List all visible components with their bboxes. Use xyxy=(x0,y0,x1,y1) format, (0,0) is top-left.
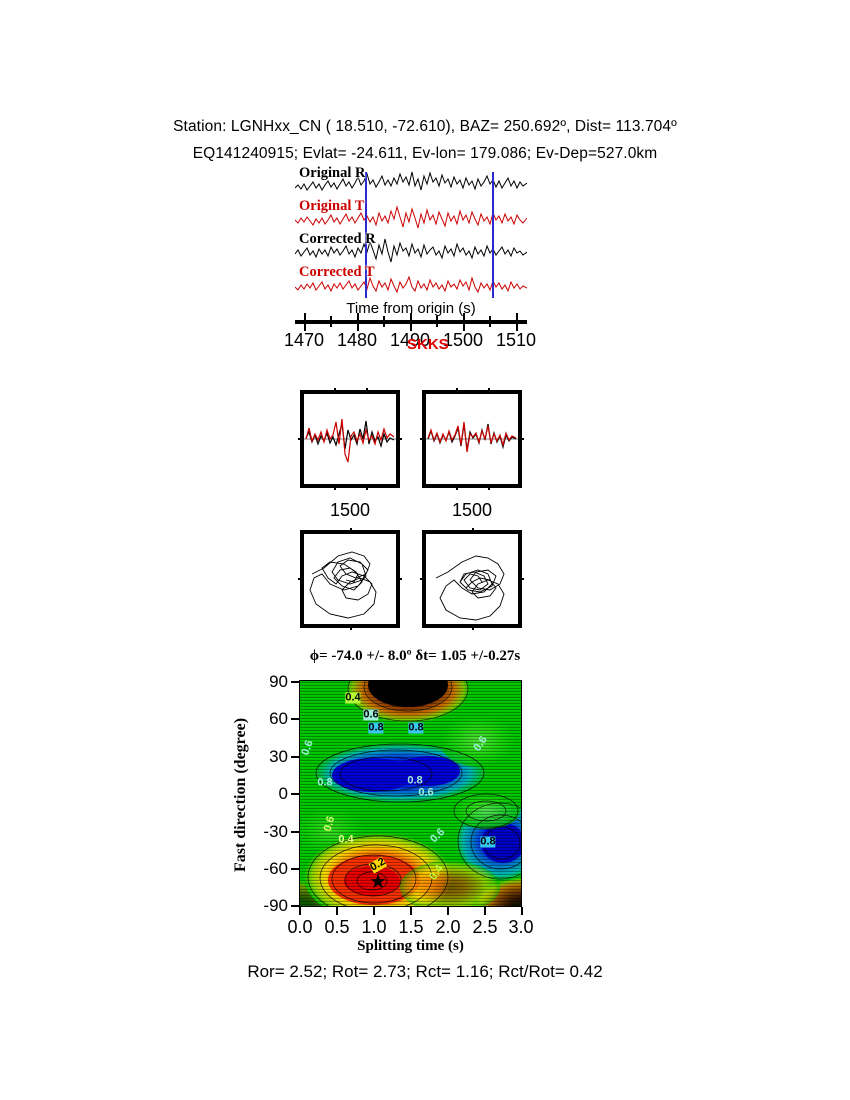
time-axis-tick xyxy=(516,313,518,331)
contour-label: 0.8 xyxy=(480,837,495,848)
y-tick xyxy=(291,793,299,795)
x-tick xyxy=(299,907,301,915)
time-axis-minor-tick xyxy=(383,316,385,327)
best-fit-solution-star: ★ xyxy=(369,872,387,892)
overlay-curves-left xyxy=(304,394,396,484)
x-tick-label: 0.0 xyxy=(287,917,312,938)
time-axis-minor-tick xyxy=(330,316,332,327)
box-tick xyxy=(472,624,474,630)
contour-label: 0.8 xyxy=(317,778,332,789)
y-tick-label: 60 xyxy=(248,709,288,729)
time-axis-tick xyxy=(410,313,412,331)
time-axis-tick xyxy=(304,313,306,331)
y-tick-label: -60 xyxy=(240,859,288,879)
box-tick xyxy=(518,578,524,580)
y-tick-label: -30 xyxy=(240,822,288,842)
splitting-misfit-contour-plot[interactable]: 0.4 0.6 0.8 0.8 0.6 0.6 0.8 0.8 0.6 0.6 … xyxy=(299,680,522,907)
contour-surface xyxy=(300,681,522,907)
skks-phase-label: SKKS xyxy=(407,336,449,353)
event-header-line: EQ141240915; Evlat= -24.611, Ev-lon= 179… xyxy=(0,145,850,163)
contour-label: 0.4 xyxy=(338,835,353,846)
box-tick xyxy=(396,578,402,580)
waveform-panel: SKKS Original R Original T Corrected R C… xyxy=(295,168,527,298)
box-tick xyxy=(518,438,524,440)
x-tick xyxy=(410,907,412,915)
corrected-waveform-box-right xyxy=(422,390,522,488)
trace-label-corrected-r: Corrected R xyxy=(299,231,376,248)
y-tick xyxy=(291,868,299,870)
corrected-waveform-box-left xyxy=(300,390,400,488)
phase-window-marker-end xyxy=(492,172,494,298)
time-tick-label: 1510 xyxy=(496,330,536,351)
splitting-parameters-title: ϕ= -74.0 +/- 8.0º δt= 1.05 +/-0.27s xyxy=(235,648,595,665)
x-tick xyxy=(521,907,523,915)
x-tick-label: 2.0 xyxy=(435,917,460,938)
y-tick-label: 90 xyxy=(248,672,288,692)
y-tick xyxy=(291,905,299,907)
y-tick xyxy=(291,831,299,833)
box-tick xyxy=(334,484,336,490)
time-tick-label: 1470 xyxy=(284,330,324,351)
x-tick-label: 0.5 xyxy=(324,917,349,938)
x-tick xyxy=(447,907,449,915)
contour-label: 0.8 xyxy=(368,723,383,734)
x-tick xyxy=(484,907,486,915)
x-tick xyxy=(336,907,338,915)
time-axis xyxy=(295,320,527,321)
trace-label-corrected-t: Corrected T xyxy=(299,264,375,281)
x-tick xyxy=(373,907,375,915)
y-tick xyxy=(291,681,299,683)
compare-label-right: 1500 xyxy=(412,500,532,521)
contour-label: 0.4 xyxy=(345,693,360,704)
station-header-line: Station: LGNHxx_CN ( 18.510, -72.610), B… xyxy=(0,118,850,136)
time-tick-label: 1500 xyxy=(443,330,483,351)
box-tick xyxy=(396,438,402,440)
box-tick xyxy=(488,484,490,490)
hodogram-curve-right xyxy=(426,534,518,624)
trace-label-original-t: Original T xyxy=(299,198,364,215)
hodogram-curve-left xyxy=(304,534,396,624)
x-tick-label: 1.5 xyxy=(398,917,423,938)
box-tick xyxy=(456,484,458,490)
contour-label: 0.8 xyxy=(408,723,423,734)
time-tick-label: 1480 xyxy=(337,330,377,351)
contour-x-axis-label: Splitting time (s) xyxy=(299,938,522,955)
x-tick-label: 1.0 xyxy=(361,917,386,938)
quality-metrics-footer: Ror= 2.52; Rot= 2.73; Rct= 1.16; Rct/Rot… xyxy=(0,962,850,982)
compare-label-left: 1500 xyxy=(290,500,410,521)
overlay-curves-right xyxy=(426,394,518,484)
time-axis-minor-tick xyxy=(489,316,491,327)
time-axis-minor-tick xyxy=(436,316,438,327)
trace-label-original-r: Original R xyxy=(299,165,365,182)
contour-label: 0.6 xyxy=(363,710,378,721)
contour-label: 0.8 xyxy=(407,776,422,787)
contour-label: 0.6 xyxy=(418,788,433,799)
y-tick xyxy=(291,718,299,720)
y-tick-label: 0 xyxy=(248,784,288,804)
time-axis-tick xyxy=(463,313,465,331)
box-tick xyxy=(366,484,368,490)
particle-motion-box-right xyxy=(422,530,522,628)
particle-motion-box-left xyxy=(300,530,400,628)
x-tick-label: 2.5 xyxy=(472,917,497,938)
y-tick-label: -90 xyxy=(240,896,288,916)
y-tick-label: 30 xyxy=(248,747,288,767)
y-tick xyxy=(291,756,299,758)
x-tick-label: 3.0 xyxy=(508,917,533,938)
box-tick xyxy=(350,624,352,630)
time-axis-tick xyxy=(357,313,359,331)
figure-canvas: Station: LGNHxx_CN ( 18.510, -72.610), B… xyxy=(0,0,850,1100)
